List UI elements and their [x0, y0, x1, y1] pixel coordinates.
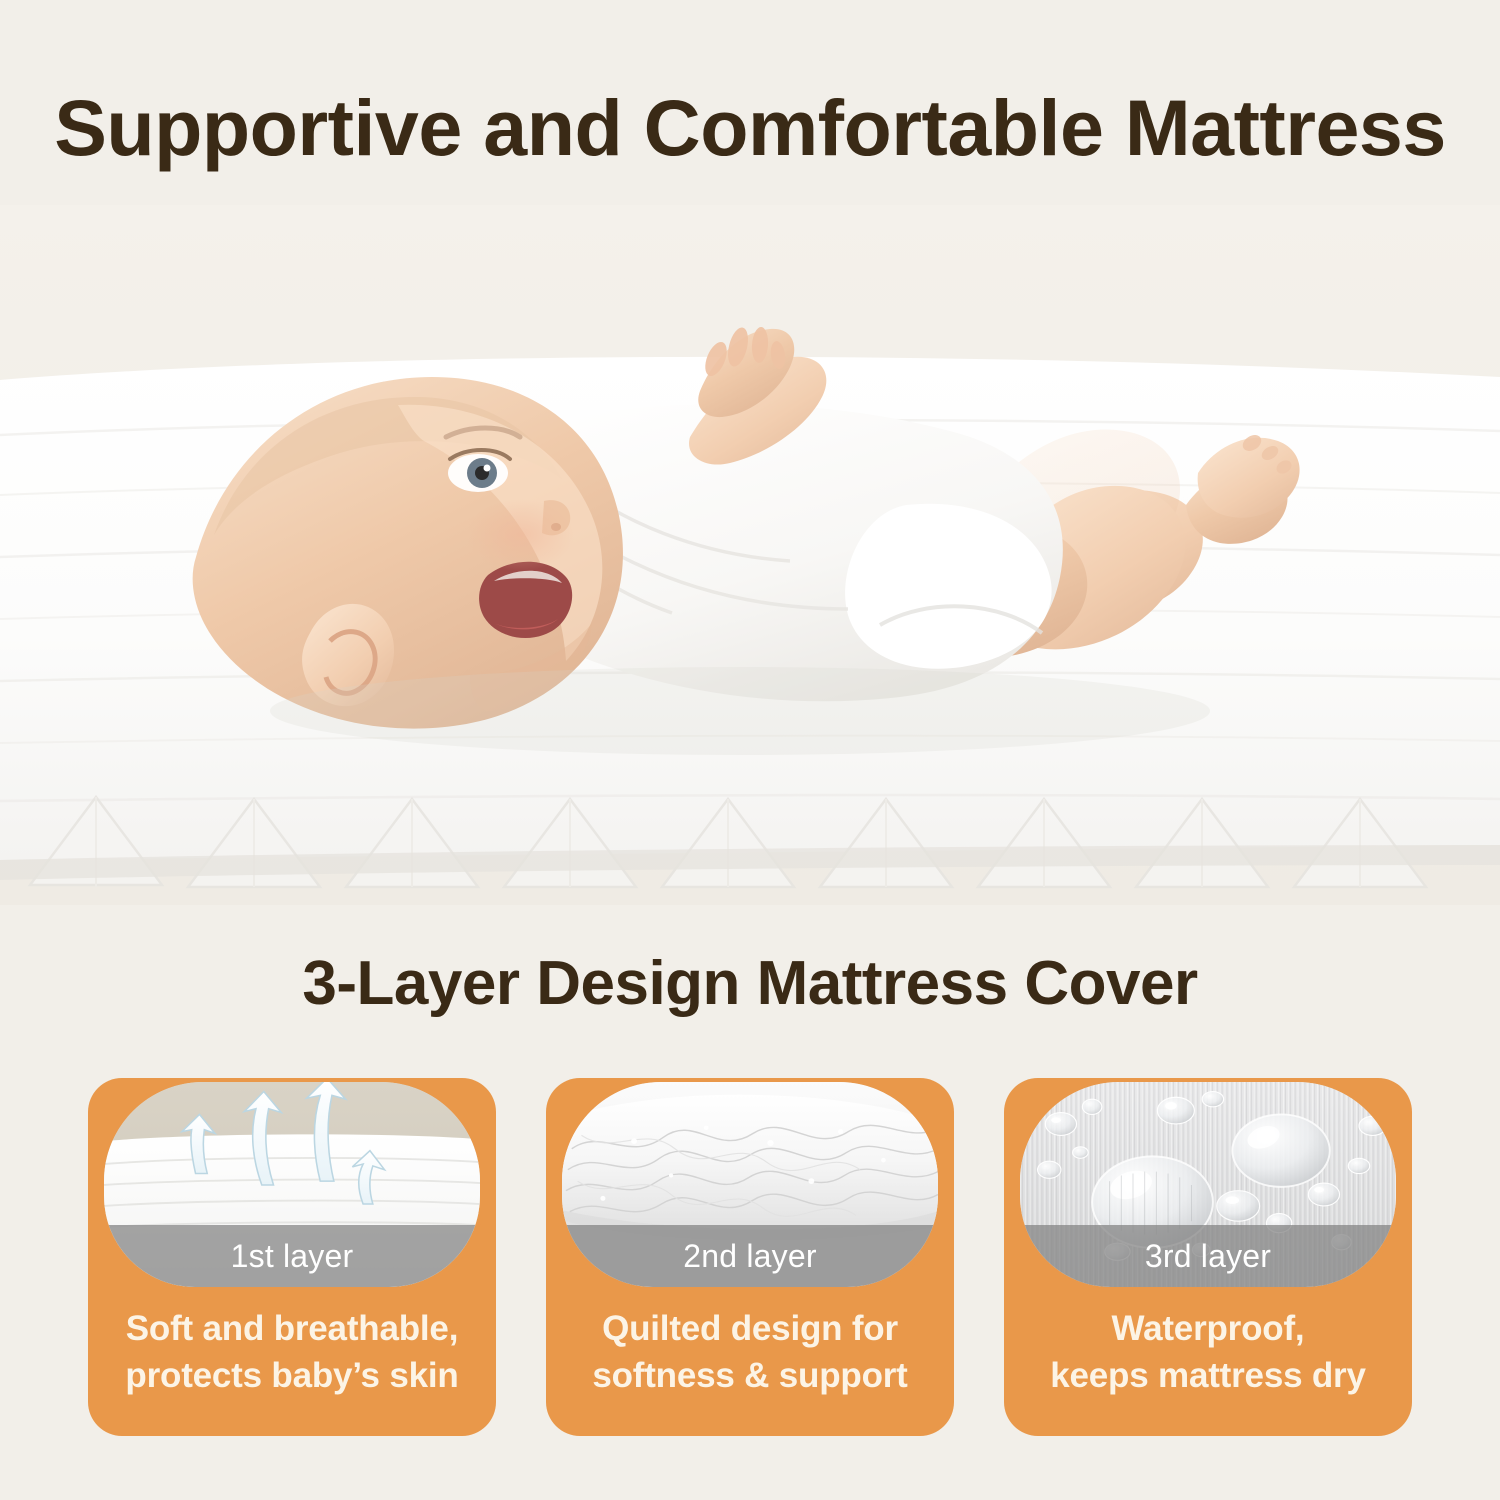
layer-3-caption: Waterproof, keeps mattress dry — [1004, 1306, 1412, 1399]
layer-cards-row: 1st layer Soft and breathable, protects … — [88, 1078, 1412, 1436]
layer-1-label: 1st layer — [231, 1238, 354, 1275]
layer-2-caption: Quilted design for softness & support — [546, 1306, 954, 1399]
section-title: 3-Layer Design Mattress Cover — [0, 948, 1500, 1019]
layer-3-band: 3rd layer — [1020, 1225, 1396, 1287]
layer-1-band: 1st layer — [104, 1225, 480, 1287]
layer-1-caption-line1: Soft and breathable, — [126, 1309, 458, 1348]
layer-card-1[interactable]: 1st layer Soft and breathable, protects … — [88, 1078, 496, 1436]
page-title: Supportive and Comfortable Mattress — [0, 82, 1500, 174]
layer-1-caption-line2: protects baby’s skin — [104, 1353, 480, 1400]
layer-3-image: 3rd layer — [1015, 1078, 1401, 1292]
layer-2-caption-line1: Quilted design for — [602, 1309, 898, 1348]
hero-photo — [0, 205, 1500, 905]
layer-1-caption: Soft and breathable, protects baby’s ski… — [88, 1306, 496, 1399]
layer-2-label: 2nd layer — [683, 1238, 816, 1275]
layer-2-caption-line2: softness & support — [562, 1353, 938, 1400]
layer-3-label: 3rd layer — [1145, 1238, 1271, 1275]
layer-2-image: 2nd layer — [557, 1078, 943, 1292]
layer-3-caption-line1: Waterproof, — [1112, 1309, 1305, 1348]
baby-on-mattress-illustration — [0, 205, 1500, 905]
layer-1-image: 1st layer — [99, 1078, 485, 1292]
layer-card-2[interactable]: 2nd layer Quilted design for softness & … — [546, 1078, 954, 1436]
layer-2-band: 2nd layer — [562, 1225, 938, 1287]
layer-3-caption-line2: keeps mattress dry — [1020, 1353, 1396, 1400]
layer-card-3[interactable]: 3rd layer Waterproof, keeps mattress dry — [1004, 1078, 1412, 1436]
